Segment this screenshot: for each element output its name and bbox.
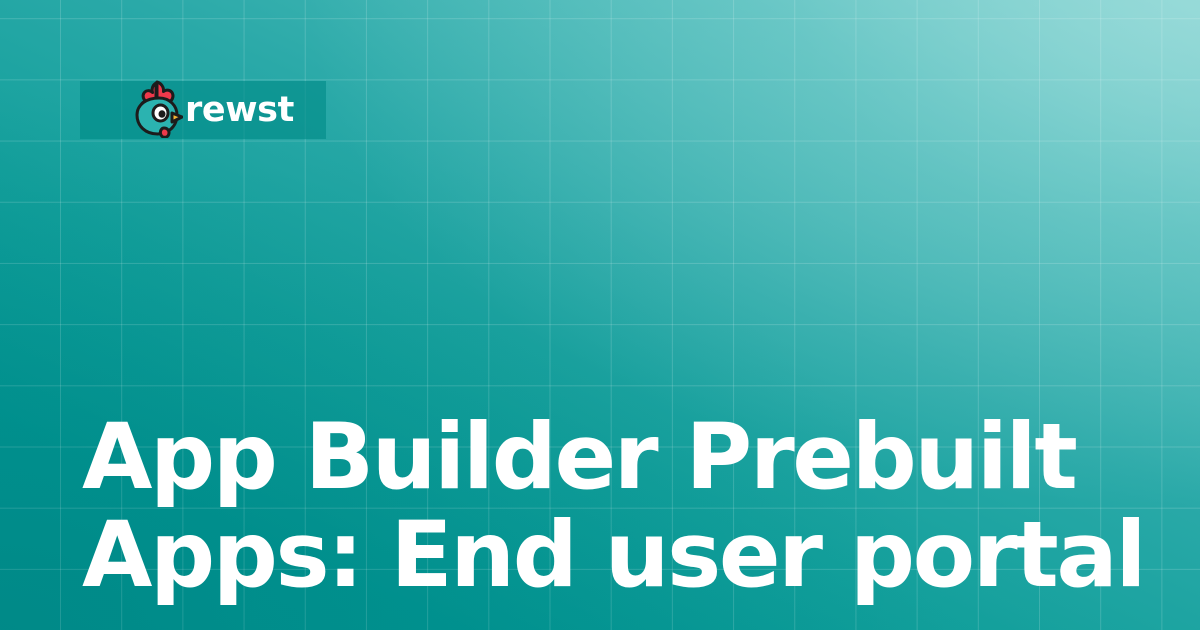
og-social-card: rewst App Builder Prebuilt Apps: End use… xyxy=(0,0,1200,630)
brand-logo-lockup[interactable]: rewst xyxy=(80,81,326,139)
rewst-rooster-icon xyxy=(129,80,183,138)
brand-wordmark: rewst xyxy=(185,93,294,128)
page-title-line-1: App Builder Prebuilt xyxy=(82,409,1122,507)
page-title: App Builder Prebuilt Apps: End user port… xyxy=(82,409,1122,605)
page-title-line-2: Apps: End user portal xyxy=(82,507,1122,605)
